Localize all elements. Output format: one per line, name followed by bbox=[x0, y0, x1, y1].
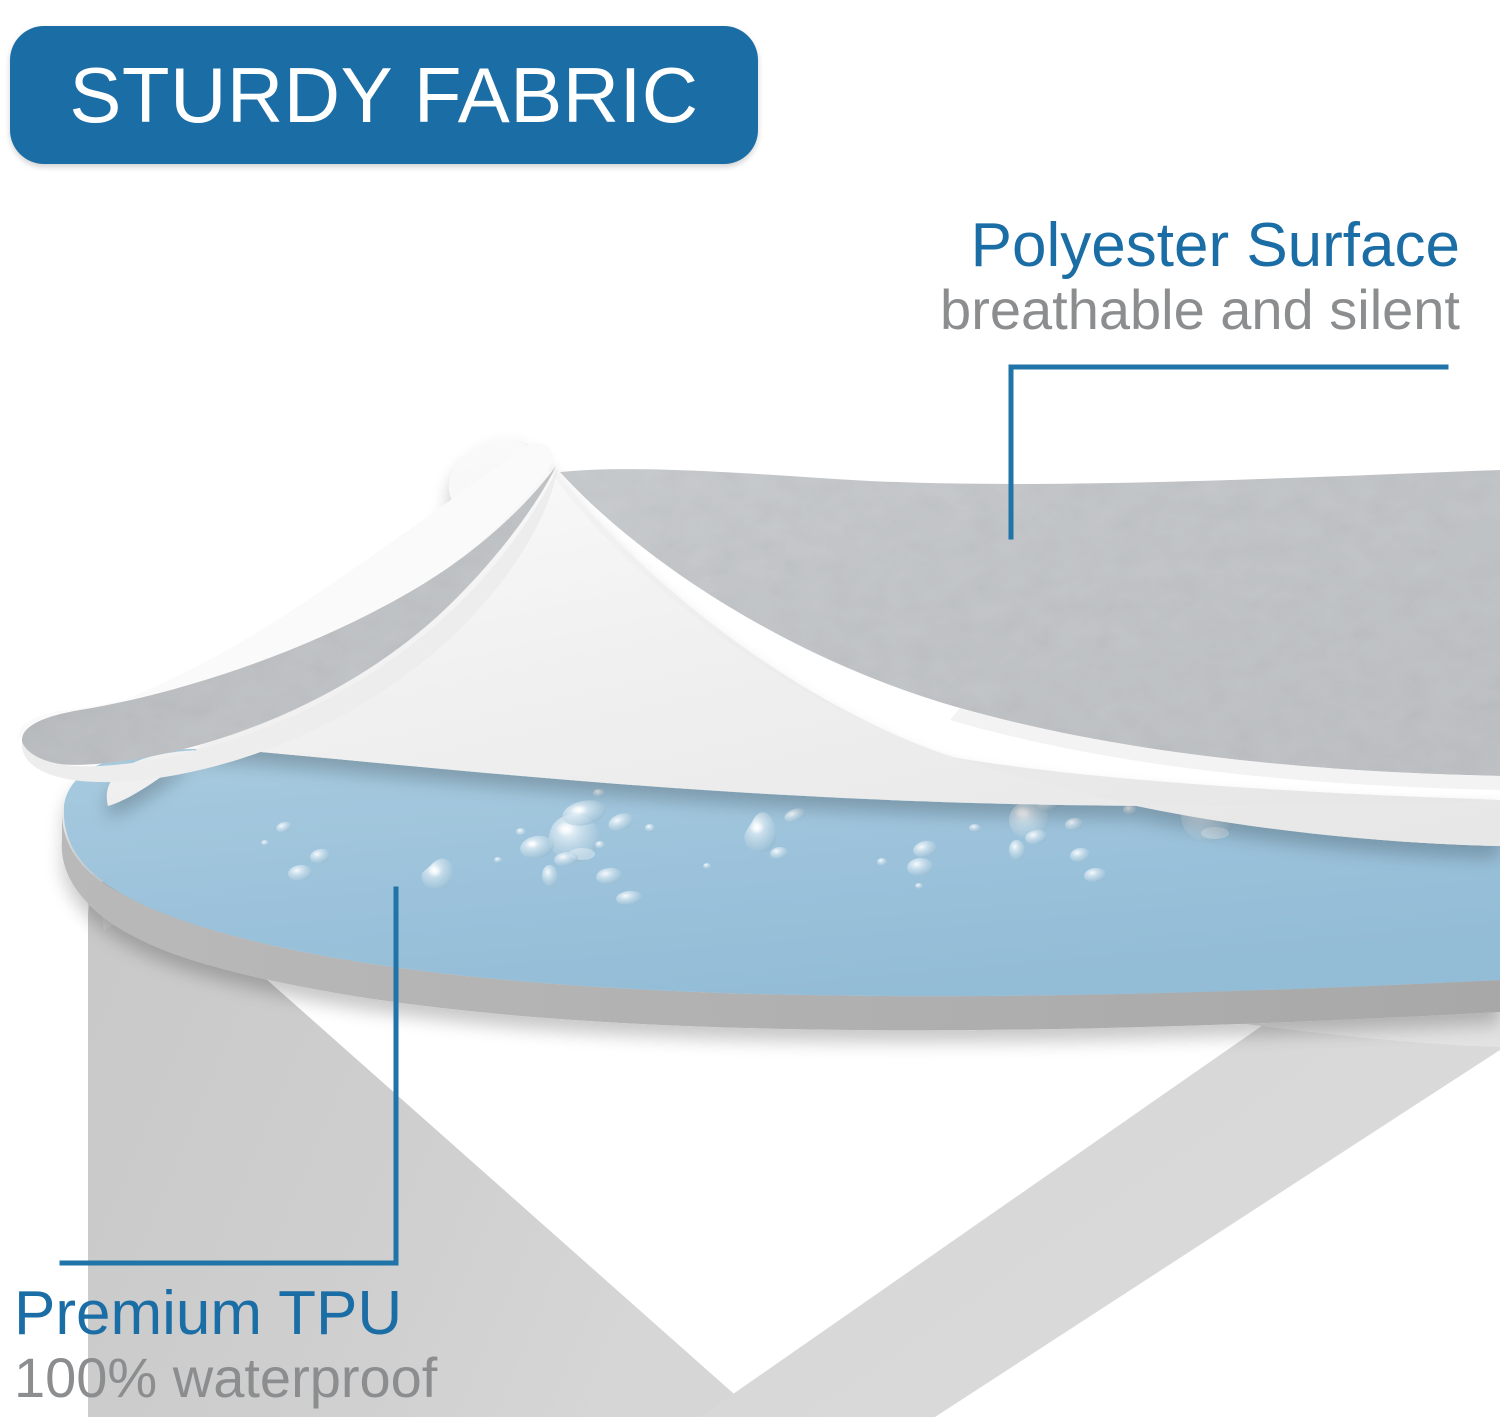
callout-subtitle-polyester: breathable and silent bbox=[940, 281, 1460, 338]
callout-subtitle-tpu: 100% waterproof bbox=[14, 1349, 437, 1406]
badge-label: STURDY FABRIC bbox=[69, 56, 698, 134]
callout-polyester-surface: Polyester Surface breathable and silent bbox=[940, 214, 1460, 338]
sturdy-fabric-badge: STURDY FABRIC bbox=[10, 26, 758, 164]
product-infographic: STURDY FABRIC Polyester Surface breathab… bbox=[0, 0, 1500, 1417]
callout-premium-tpu: Premium TPU 100% waterproof bbox=[14, 1282, 437, 1406]
callout-title-polyester: Polyester Surface bbox=[940, 214, 1460, 277]
callout-title-tpu: Premium TPU bbox=[14, 1282, 437, 1345]
